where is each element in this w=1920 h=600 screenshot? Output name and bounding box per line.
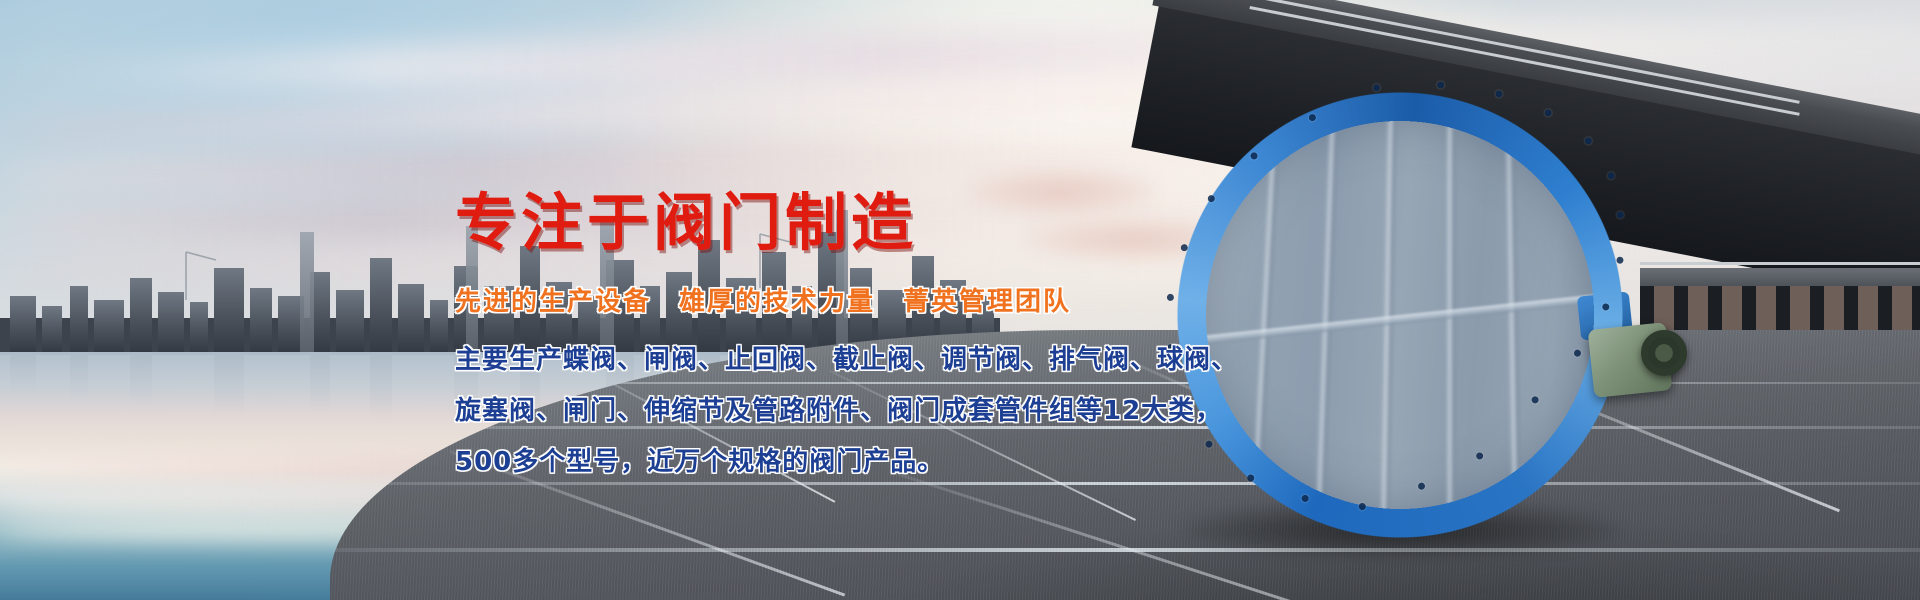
description-line-1: 主要生产蝶阀、闸阀、止回阀、截止阀、调节阀、排气阀、球阀、 [455, 339, 1215, 376]
handwheel-icon [1641, 330, 1687, 376]
valve-bolt-circle [1142, 57, 1659, 574]
page-title: 专注于阀门制造 [455, 192, 1215, 254]
banner-copy: 专注于阀门制造 先进的生产设备 雄厚的技术力量 菁英管理团队 主要生产蝶阀、闸阀… [455, 192, 1215, 478]
promo-banner: 专注于阀门制造 先进的生产设备 雄厚的技术力量 菁英管理团队 主要生产蝶阀、闸阀… [0, 0, 1920, 600]
tagline: 先进的生产设备 雄厚的技术力量 菁英管理团队 [455, 281, 1215, 318]
description-line-3: 500多个型号，近万个规格的阀门产品。 [455, 441, 1215, 478]
butterfly-valve-product [1165, 80, 1635, 550]
far-bridge-railing [1640, 262, 1920, 265]
far-bridge-deck [1640, 268, 1920, 286]
description-line-2: 旋塞阀、闸门、伸缩节及管路附件、阀门成套管件组等12大类， [455, 390, 1215, 427]
paving-seam [330, 482, 1920, 485]
paving-seam [330, 548, 1920, 552]
